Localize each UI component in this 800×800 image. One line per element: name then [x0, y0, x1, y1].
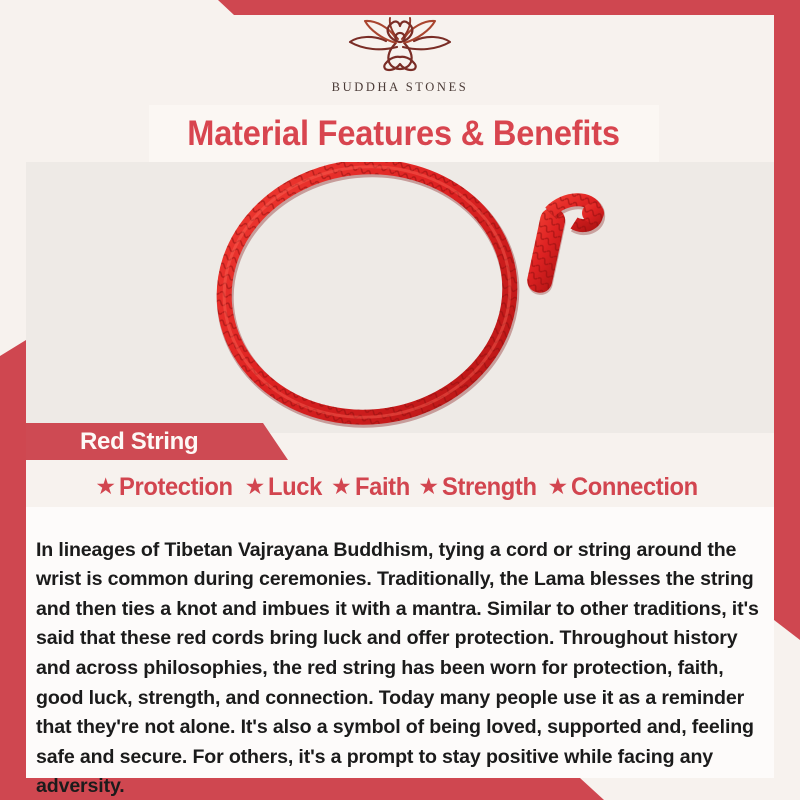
decorative-top-bar: [0, 0, 800, 15]
brand-wordmark: BUDDHA STONES: [332, 80, 469, 95]
benefit-item: ★ Faith: [331, 473, 412, 502]
benefit-item: ★ Strength: [418, 473, 541, 502]
description-paragraph: In lineages of Tibetan Vajrayana Buddhis…: [36, 536, 764, 800]
ribbon-label: Red String: [26, 428, 198, 456]
product-photo: [26, 162, 774, 433]
benefit-label: Faith: [355, 473, 410, 502]
red-braided-string-bracelet-illustration: [26, 162, 774, 433]
benefit-item: ★ Protection: [95, 473, 238, 502]
star-icon: ★: [95, 475, 116, 498]
page-title: Material Features & Benefits: [188, 114, 621, 154]
benefit-label: Luck: [268, 473, 322, 502]
star-icon: ★: [418, 475, 439, 498]
benefits-row: ★ Protection ★ Luck ★ Faith ★ Strength ★…: [26, 467, 774, 507]
benefit-label: Connection: [571, 473, 698, 502]
star-icon: ★: [331, 475, 352, 498]
description-card: In lineages of Tibetan Vajrayana Buddhis…: [26, 507, 774, 778]
poster-inner-canvas: BUDDHA STONES Material Features & Benefi…: [26, 15, 774, 778]
ribbon-shape: Red String: [26, 423, 288, 460]
benefit-item: ★ Luck: [245, 473, 325, 502]
benefit-item: ★ Connection: [548, 473, 705, 502]
lotus-meditating-figure-icon: [334, 17, 466, 79]
star-icon: ★: [245, 475, 266, 498]
decorative-left-bar: [0, 170, 26, 800]
star-icon: ★: [548, 475, 569, 498]
benefit-label: Strength: [442, 473, 537, 502]
decorative-right-bar: [774, 0, 800, 640]
brand-logo-block: BUDDHA STONES: [26, 15, 774, 105]
infographic-poster: BUDDHA STONES Material Features & Benefi…: [0, 0, 800, 800]
benefit-label: Protection: [119, 473, 233, 502]
title-band: Material Features & Benefits: [149, 105, 659, 162]
product-name-ribbon: Red String: [26, 423, 326, 463]
